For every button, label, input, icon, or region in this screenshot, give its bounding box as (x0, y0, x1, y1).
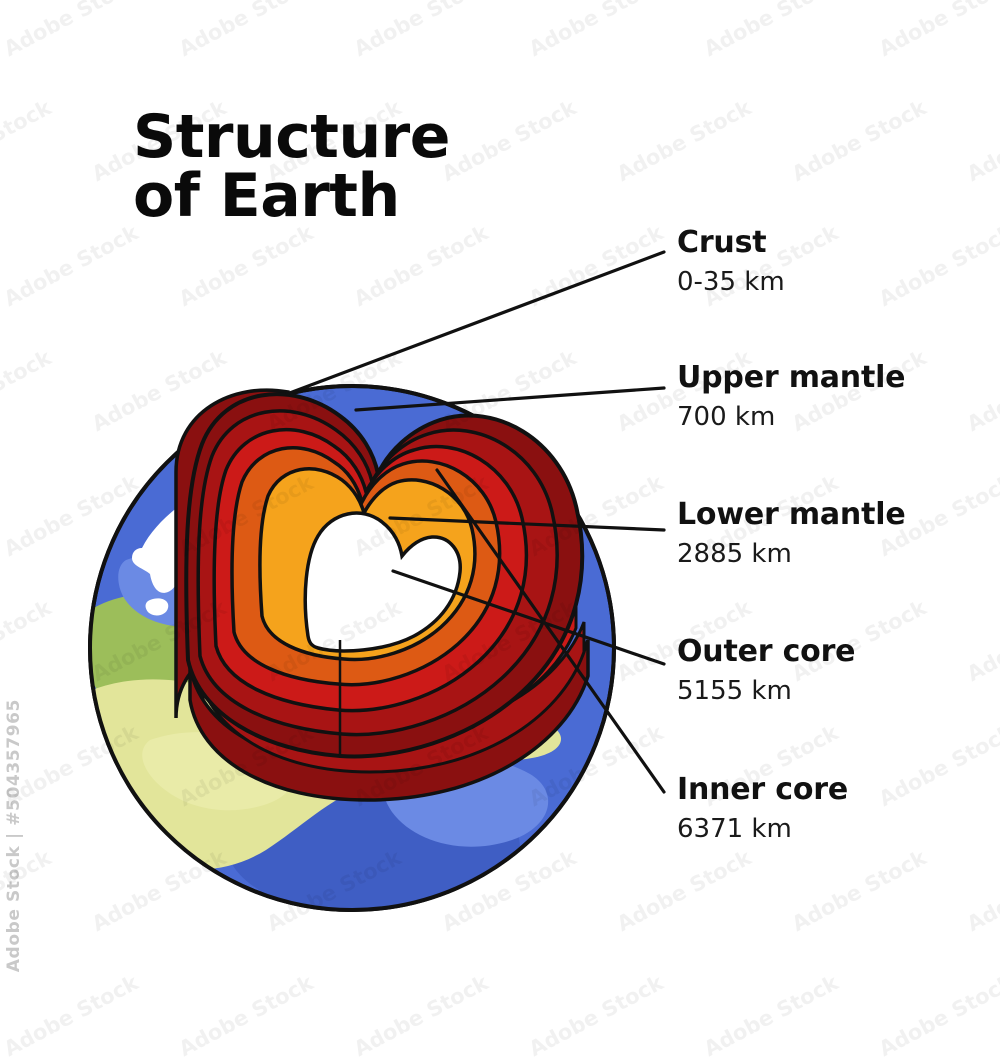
legend-item-lower-mantle: Lower mantle 2885 km (677, 500, 997, 567)
legend-item-outer-core: Outer core 5155 km (677, 637, 997, 704)
leader-line-crust (287, 252, 664, 394)
legend-item-crust: Crust 0-35 km (677, 228, 997, 295)
legend-label-inner-core: Inner core (677, 775, 997, 805)
page-title: Structure of Earth (133, 108, 450, 226)
legend-item-inner-core: Inner core 6371 km (677, 775, 997, 842)
legend-label-upper-mantle: Upper mantle (677, 363, 997, 393)
legend-depth-crust: 0-35 km (677, 269, 997, 295)
illustration-canvas: Structure of Earth Crust 0-35 km Upper m… (0, 0, 1000, 1000)
adobe-stock-watermark-id: Adobe Stock | #504357965 (4, 699, 24, 972)
legend-label-crust: Crust (677, 228, 997, 258)
legend-depth-upper-mantle: 700 km (677, 404, 997, 430)
legend-depth-outer-core: 5155 km (677, 678, 997, 704)
legend-label-outer-core: Outer core (677, 637, 997, 667)
legend-label-lower-mantle: Lower mantle (677, 500, 997, 530)
legend-item-upper-mantle: Upper mantle 700 km (677, 363, 997, 430)
legend-depth-lower-mantle: 2885 km (677, 541, 997, 567)
legend-depth-inner-core: 6371 km (677, 816, 997, 842)
